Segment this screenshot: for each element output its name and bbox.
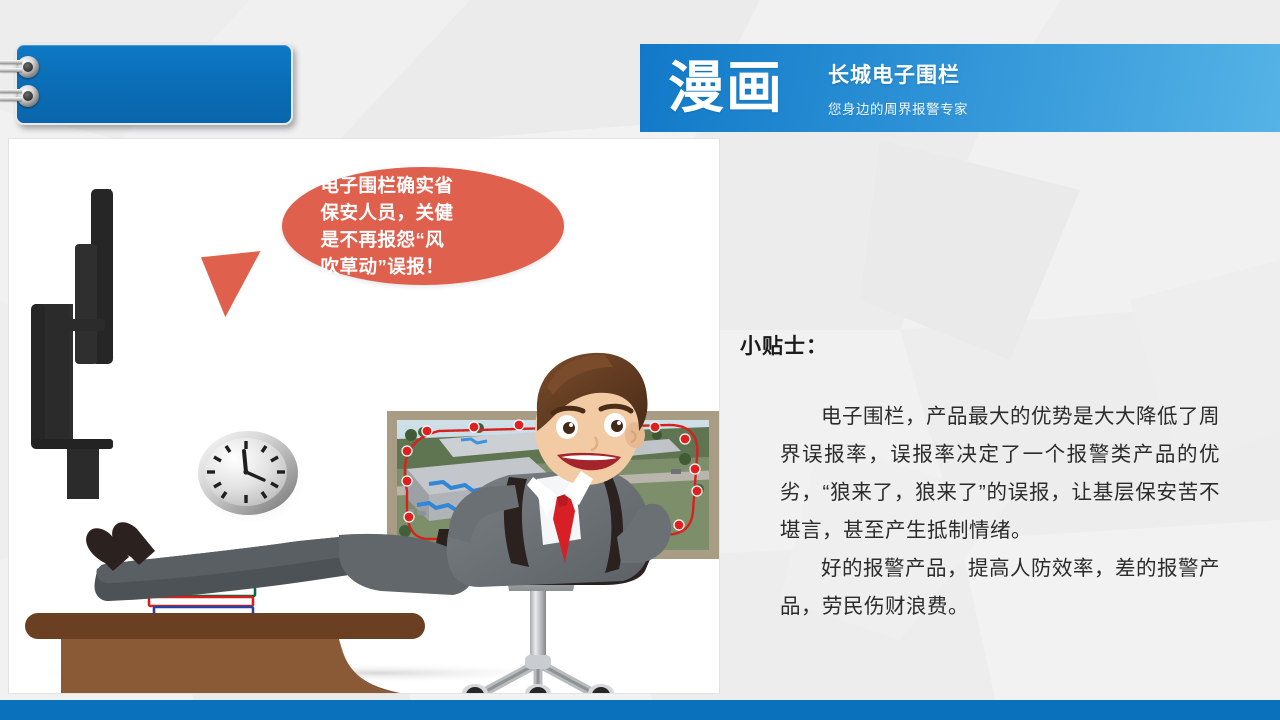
speech-bubble-text: 电子围栏确实省 保安人员，关健 是不再报怨“风 吹草动”误报！ <box>321 172 526 280</box>
fence-wire-bottom-b <box>0 97 22 101</box>
bottom-accent-bar <box>0 700 1280 720</box>
fence-wire-top-a <box>0 60 22 64</box>
header-banner: 漫画 长城电子围栏 您身边的周界报警专家 <box>640 44 1280 132</box>
tips-paragraph-2: 好的报警产品，提高人防效率，差的报警产品，劳民伤财浪费。 <box>780 550 1220 626</box>
cartoon-panel: 产业园周界防区图 <box>8 138 720 694</box>
fence-wire-bottom-a <box>0 89 22 93</box>
speech-bubble: 电子围栏确实省 保安人员，关健 是不再报怨“风 吹草动”误报！ <box>282 167 564 285</box>
fence-wire-top-b <box>0 68 22 72</box>
tips-panel: 小贴士： 电子围栏，产品最大的优势是大大降低了周界误报率，误报率决定了一个报警类… <box>740 330 1240 626</box>
title-plaque-label <box>17 45 291 123</box>
title-plaque[interactable] <box>15 43 293 125</box>
header-subtitle: 您身边的周界报警专家 <box>828 98 968 118</box>
businessman-character <box>86 353 671 601</box>
header-title: 长城电子围栏 <box>828 59 968 89</box>
manhua-badge: 漫画 <box>668 60 784 116</box>
office-desk <box>25 613 425 694</box>
header-titles: 长城电子围栏 您身边的周界报警专家 <box>828 59 968 118</box>
slide-canvas: 漫画 长城电子围栏 您身边的周界报警专家 <box>0 0 1280 720</box>
tips-body: 电子围栏，产品最大的优势是大大降低了周界误报率，误报率决定了一个报警类产品的优劣… <box>740 398 1240 626</box>
speech-bubble-tail <box>201 251 267 319</box>
tips-title: 小贴士： <box>740 330 1240 360</box>
wall-clock <box>194 427 306 523</box>
tips-paragraph-1: 电子围栏，产品最大的优势是大大降低了周界误报率，误报率决定了一个报警类产品的优劣… <box>780 398 1220 550</box>
